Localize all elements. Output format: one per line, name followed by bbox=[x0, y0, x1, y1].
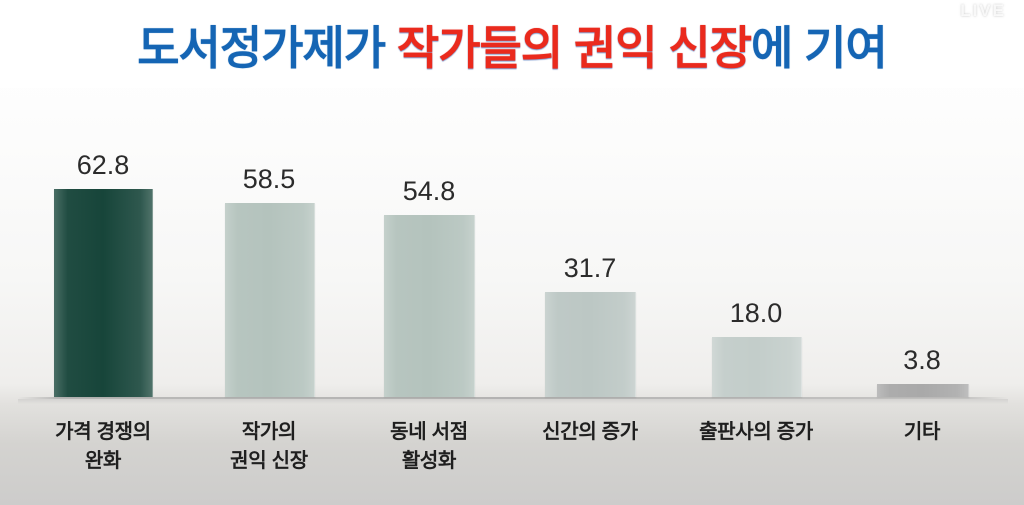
category-label-line-1: 동네 서점 bbox=[390, 421, 468, 443]
bar bbox=[877, 384, 969, 397]
bar-value-label: 18.0 bbox=[730, 298, 783, 329]
category-label-line-1: 기타 bbox=[904, 421, 940, 443]
bar-sheen bbox=[225, 203, 314, 397]
category-label: 가격 경쟁의완화 bbox=[55, 418, 151, 476]
bar-value-label: 3.8 bbox=[903, 345, 941, 376]
broadcast-chart-screen: 도서정가제가 작가들의 권익 신장에 기여 LIVE 62.8가격 경쟁의완화5… bbox=[0, 0, 1024, 505]
category-label: 작가의권익 신장 bbox=[230, 418, 308, 476]
bar-group: 18.0출판사의 증가 bbox=[712, 0, 801, 505]
bar bbox=[225, 203, 315, 397]
category-label: 신간의 증가 bbox=[542, 418, 638, 447]
bar bbox=[545, 292, 636, 397]
bar-sheen bbox=[877, 384, 968, 397]
bar-value-label: 31.7 bbox=[564, 253, 617, 284]
category-label: 기타 bbox=[904, 418, 940, 447]
bar-highlighted bbox=[54, 189, 153, 397]
bar bbox=[712, 337, 802, 397]
bar-sheen bbox=[545, 292, 635, 397]
category-label-line-1: 가격 경쟁의 bbox=[55, 421, 151, 443]
category-label-line-1: 작가의 bbox=[242, 421, 296, 443]
category-label-line-2: 완화 bbox=[55, 447, 151, 476]
bar-group: 31.7신간의 증가 bbox=[545, 0, 635, 505]
bar bbox=[384, 215, 475, 397]
bar-value-label: 54.8 bbox=[403, 176, 456, 207]
category-label-line-2: 권익 신장 bbox=[230, 447, 308, 476]
category-label-line-2: 활성화 bbox=[390, 447, 468, 476]
bar-group: 3.8기타 bbox=[877, 0, 968, 505]
bar-sheen bbox=[384, 215, 474, 397]
bar-group: 54.8동네 서점활성화 bbox=[384, 0, 474, 505]
bar-group: 62.8가격 경쟁의완화 bbox=[54, 0, 152, 505]
category-label-line-1: 출판사의 증가 bbox=[699, 421, 813, 443]
category-label: 동네 서점활성화 bbox=[390, 418, 468, 476]
bar-value-label: 58.5 bbox=[243, 164, 296, 195]
category-label-line-1: 신간의 증가 bbox=[542, 421, 638, 443]
bar-sheen bbox=[54, 189, 152, 397]
category-label: 출판사의 증가 bbox=[699, 418, 813, 447]
bar-group: 58.5작가의권익 신장 bbox=[225, 0, 314, 505]
bar-value-label: 62.8 bbox=[77, 150, 130, 181]
bar-sheen bbox=[712, 337, 801, 397]
bar-chart: 62.8가격 경쟁의완화58.5작가의권익 신장54.8동네 서점활성화31.7… bbox=[0, 0, 1024, 505]
axis-baseline-shadow bbox=[18, 399, 1008, 404]
